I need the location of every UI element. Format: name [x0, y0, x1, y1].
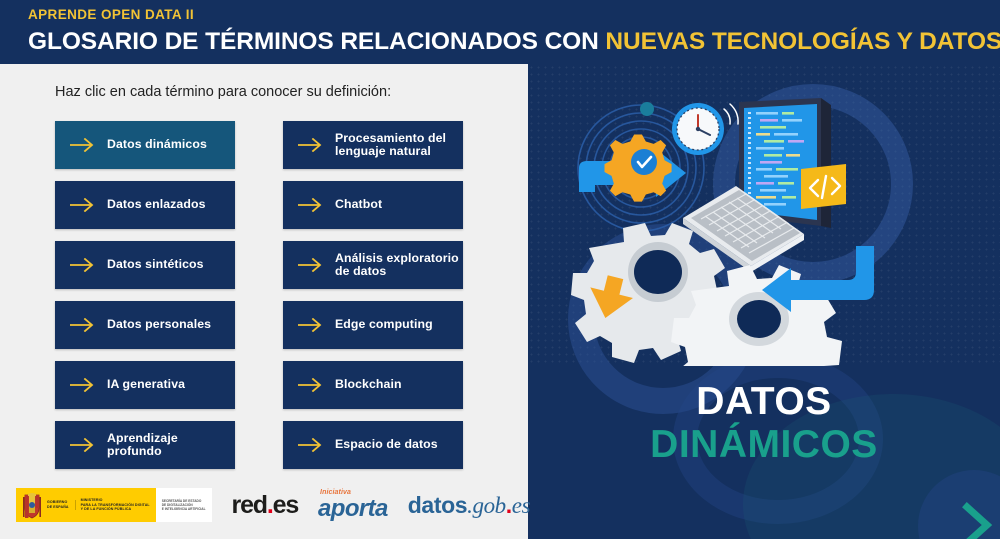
page-header: APRENDE OPEN DATA II GLOSARIO DE TÉRMINO… [0, 0, 1000, 64]
page-title-main: GLOSARIO DE TÉRMINOS RELACIONADOS CON [28, 28, 605, 55]
term-button-label: Blockchain [335, 378, 402, 392]
redes-logo: red.es [232, 492, 298, 518]
arrow-right-icon [297, 318, 323, 332]
gobierno-de-espana-logo: GOBIERNO DE ESPAÑA MINISTERIO PARA LA TR… [16, 488, 212, 522]
term-button-label: Datos personales [107, 318, 211, 332]
term-button-label: Análisis exploratorio de datos [335, 252, 463, 279]
term-button[interactable]: Edge computing [283, 301, 463, 349]
term-button-label: Datos dinámicos [107, 138, 207, 152]
showcase-title: DATOS DINÁMICOS [528, 380, 1000, 466]
arrow-right-icon [297, 198, 323, 212]
term-button[interactable]: Datos enlazados [55, 181, 235, 229]
terms-panel: Haz clic en cada término para conocer su… [0, 64, 528, 474]
arrow-right-icon [69, 138, 95, 152]
arrow-right-icon [297, 138, 323, 152]
chevron-right-icon[interactable] [960, 502, 994, 539]
datos-text-1: datos [408, 492, 467, 518]
datos-text-3: es [512, 493, 530, 518]
arrow-right-icon [69, 258, 95, 272]
term-button[interactable]: IA generativa [55, 361, 235, 409]
term-button[interactable]: Blockchain [283, 361, 463, 409]
arrow-right-icon [69, 318, 95, 332]
term-button[interactable]: Datos dinámicos [55, 121, 235, 169]
code-badge [801, 164, 846, 209]
arrow-right-icon [69, 438, 95, 452]
spain-coat-of-arms-icon [21, 492, 43, 519]
term-button[interactable]: Análisis exploratorio de datos [283, 241, 463, 289]
term-button-label: Datos enlazados [107, 198, 206, 212]
aporta-logo: Iniciativa aporta [318, 489, 388, 521]
term-button-label: Datos sintéticos [107, 258, 204, 272]
redes-text-2: es [273, 491, 298, 519]
datos-text-2: gob [472, 493, 505, 518]
ministerio-text: MINISTERIO PARA LA TRANSFORMACIÓN DIGITA… [81, 498, 150, 512]
showcase-panel: DATOS DINÁMICOS [528, 64, 1000, 539]
arrow-right-icon [69, 198, 95, 212]
showcase-title-line1: DATOS [528, 380, 1000, 423]
instruction-text: Haz clic en cada término para conocer su… [55, 84, 391, 100]
page-title-highlight: NUEVAS TECNOLOGÍAS Y DATOS [605, 28, 1000, 55]
logo-strip: GOBIERNO DE ESPAÑA MINISTERIO PARA LA TR… [16, 488, 530, 522]
secretaria-estado-block: SECRETARÍA DE ESTADO DE DIGITALIZACIÓN E… [156, 488, 212, 522]
slide-root: APRENDE OPEN DATA II GLOSARIO DE TÉRMINO… [0, 0, 1000, 539]
showcase-title-line2: DINÁMICOS [528, 423, 1000, 466]
clock-icon [672, 103, 738, 155]
gobierno-yellow-block: GOBIERNO DE ESPAÑA MINISTERIO PARA LA TR… [16, 488, 156, 522]
term-button[interactable]: Procesamiento del lenguaje natural [283, 121, 463, 169]
term-button-label: Edge computing [335, 318, 433, 332]
redes-text-1: red [232, 491, 267, 519]
arrow-right-icon [297, 438, 323, 452]
arrow-right-icon [297, 258, 323, 272]
term-button-label: Aprendizaje profundo [107, 432, 235, 459]
secretaria-text: SECRETARÍA DE ESTADO DE DIGITALIZACIÓN E… [162, 499, 206, 512]
term-button-label: Procesamiento del lenguaje natural [335, 132, 463, 159]
term-button[interactable]: Datos personales [55, 301, 235, 349]
footer: GOBIERNO DE ESPAÑA MINISTERIO PARA LA TR… [0, 474, 528, 539]
term-button-label: Chatbot [335, 198, 382, 212]
term-button[interactable]: Datos sintéticos [55, 241, 235, 289]
datos-gob-es-logo: datos.gob.es [408, 493, 530, 518]
term-button[interactable]: Aprendizaje profundo [55, 421, 235, 469]
term-button-label: IA generativa [107, 378, 185, 392]
page-title: GLOSARIO DE TÉRMINOS RELACIONADOS CON NU… [28, 27, 1000, 56]
term-button[interactable]: Espacio de datos [283, 421, 463, 469]
term-button-label: Espacio de datos [335, 438, 438, 452]
aporta-main: aporta [318, 497, 388, 521]
term-button[interactable]: Chatbot [283, 181, 463, 229]
header-kicker: APRENDE OPEN DATA II [28, 7, 1000, 22]
gear-check-icon [605, 135, 672, 202]
dynamic-data-illustration [546, 76, 946, 366]
arrow-right-icon [297, 378, 323, 392]
dot-decor [640, 102, 654, 116]
gobierno-text: GOBIERNO DE ESPAÑA [47, 500, 76, 509]
arrow-right-icon [69, 378, 95, 392]
term-button-grid: Datos dinámicosProcesamiento del lenguaj… [55, 121, 480, 469]
